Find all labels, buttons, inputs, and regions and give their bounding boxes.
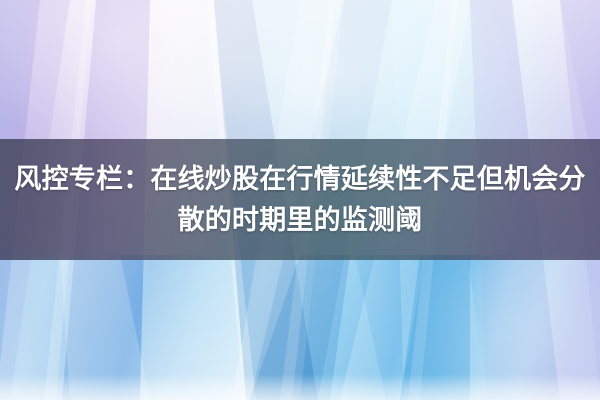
cover-banner: 风控专栏：在线炒股在行情延续性不足但机会分散的时期里的监测阈 — [0, 0, 600, 400]
banner-title: 风控专栏：在线炒股在行情延续性不足但机会分散的时期里的监测阈 — [8, 159, 592, 241]
title-overlay-band: 风控专栏：在线炒股在行情延续性不足但机会分散的时期里的监测阈 — [0, 139, 600, 260]
